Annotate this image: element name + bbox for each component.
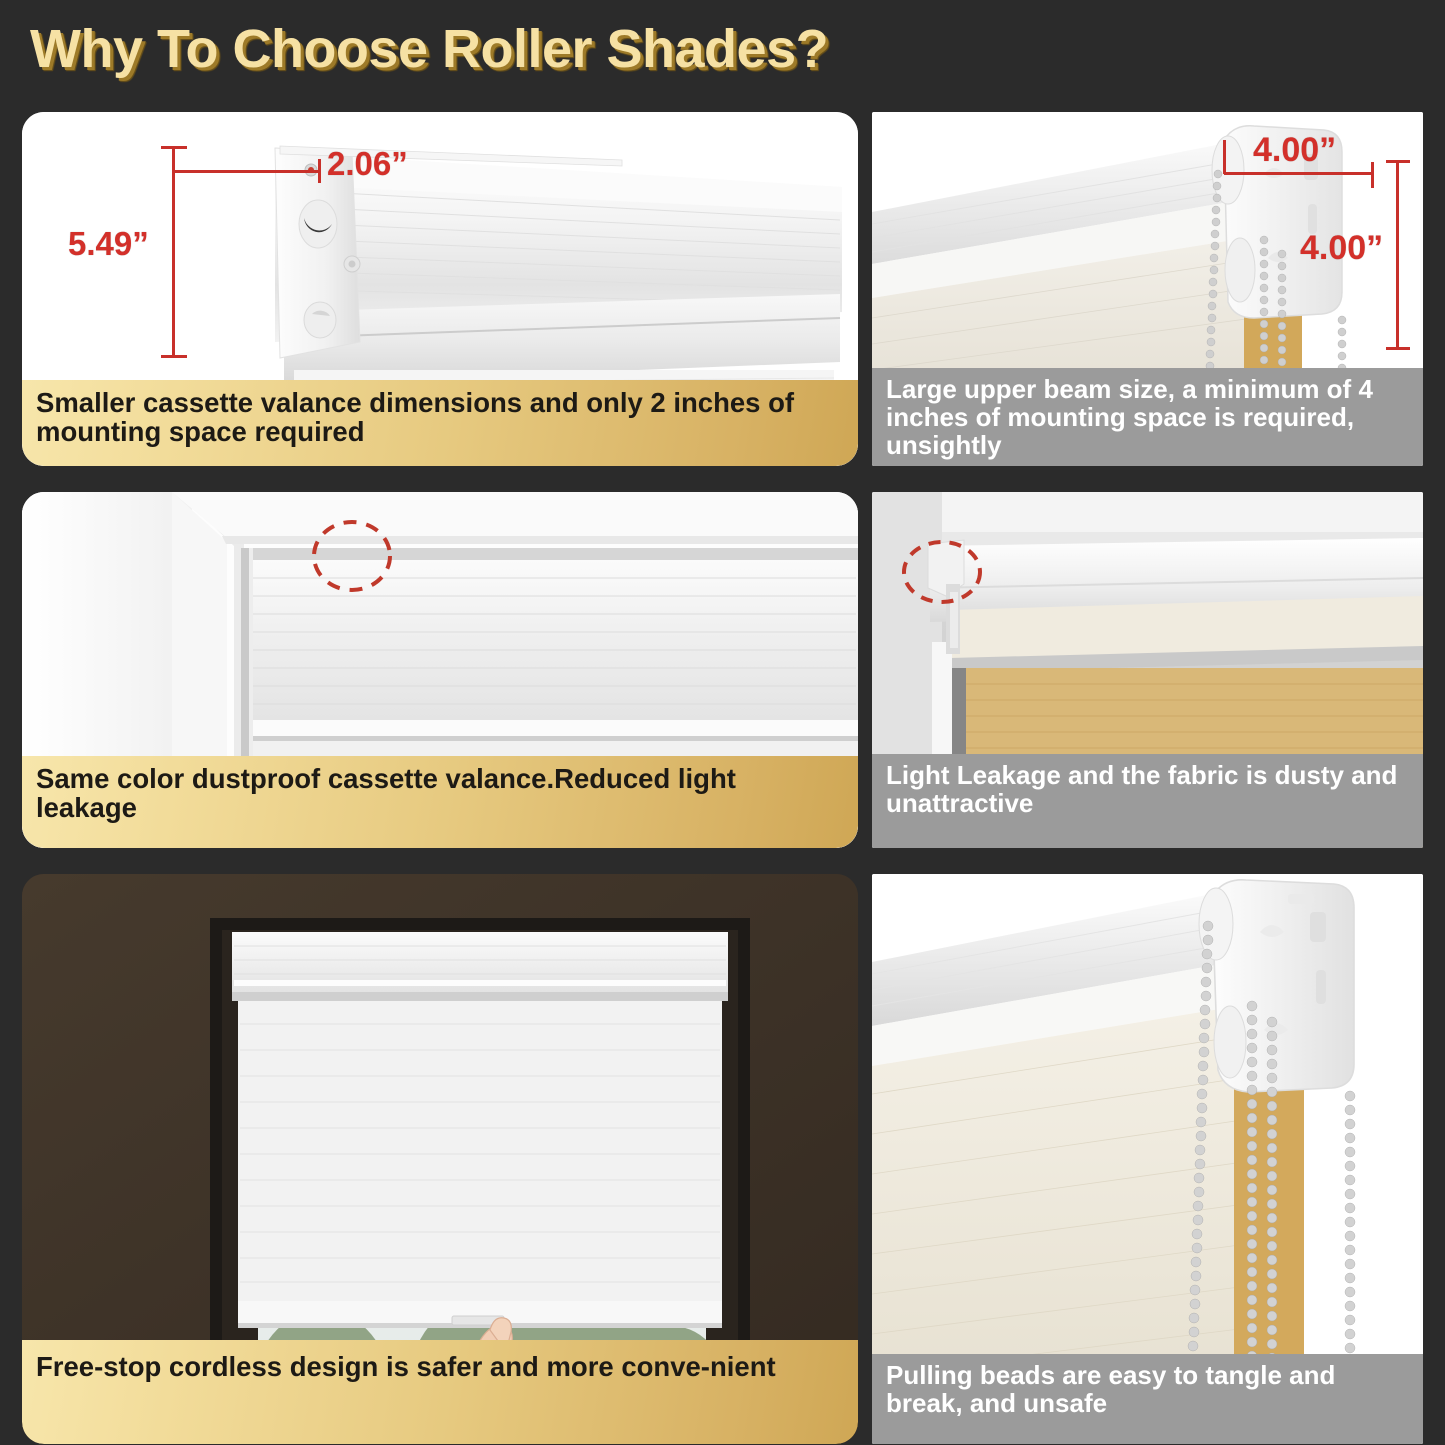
beam-width-dimension-label: 4.00” [1253,131,1336,170]
beam-height-dimension-line [1396,160,1399,350]
panel-caption: Light Leakage and the fabric is dusty an… [872,754,1423,848]
beam-height-tick-bottom [1386,347,1410,350]
panel-cordless-design: Free-stop cordless design is safer and m… [22,874,858,1444]
panel-caption: Same color dustproof cassette valance.Re… [22,756,858,848]
width-dimension-label: 2.06” [327,145,408,183]
panel-pulling-beads: Pulling beads are easy to tangle and bre… [872,874,1423,1444]
height-dimension-tick-bottom [161,355,187,358]
width-dimension-tick-right [318,159,321,183]
height-dimension-tick-top [161,146,187,149]
panel-grid: 5.49” 2.06” Smaller cassette valance dim… [0,108,1445,1445]
page-title: Why To Choose Roller Shades? [30,18,828,80]
beam-width-tick-left [1223,140,1226,174]
panel-caption: Large upper beam size, a minimum of 4 in… [872,368,1423,466]
beam-width-tick-right [1371,162,1374,188]
panel-dustproof-valance: smaller gap Same color dustproof cassett… [22,492,858,848]
panel-smaller-cassette: 5.49” 2.06” Smaller cassette valance dim… [22,112,858,466]
panel-caption: Free-stop cordless design is safer and m… [22,1340,858,1444]
panel-caption: Smaller cassette valance dimensions and … [22,380,858,466]
width-dimension-line [175,170,320,173]
panel-large-upper-beam: 4.00” 4.00” Large upper beam size, a min… [872,112,1423,466]
beam-height-dimension-label: 4.00” [1300,229,1383,268]
beam-width-dimension-line [1224,172,1374,175]
height-dimension-label: 5.49” [68,225,149,263]
infographic-root: Why To Choose Roller Shades? [0,0,1445,1445]
beam-height-tick-top [1386,160,1410,163]
panel-caption: Pulling beads are easy to tangle and bre… [872,1354,1423,1444]
height-dimension-line [172,146,175,358]
panel-light-leakage: Large gap Light Leakage and the fabric i… [872,492,1423,848]
